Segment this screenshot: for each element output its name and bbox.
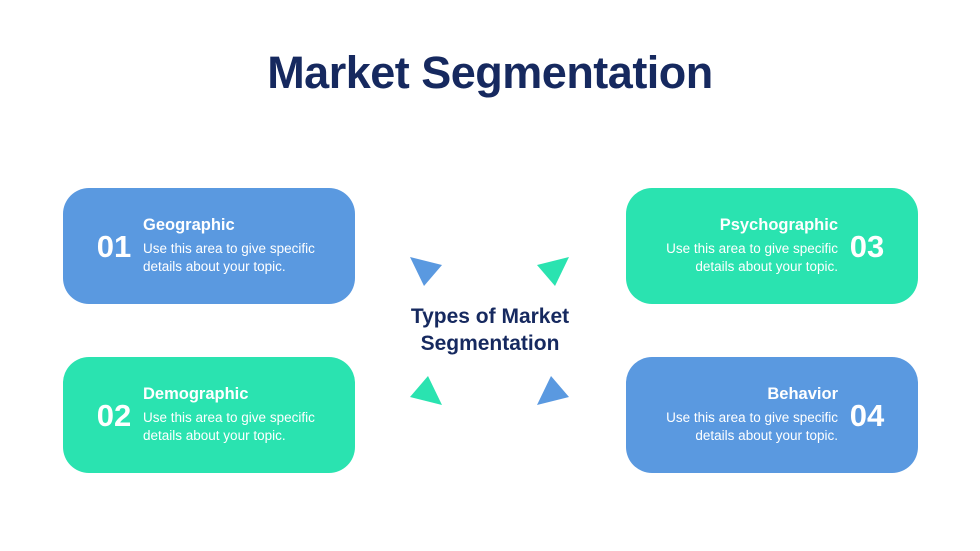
segment-content: Geographic Use this area to give specifi…: [143, 216, 339, 276]
arrow-bottom-left-icon: [409, 375, 443, 409]
arrow-bottom-right-icon: [536, 375, 570, 409]
segment-content: Behavior Use this area to give specific …: [642, 385, 838, 445]
segment-card-geographic[interactable]: 01 Geographic Use this area to give spec…: [63, 188, 355, 304]
segment-description: Use this area to give specific details a…: [143, 240, 339, 276]
arrow-top-left-icon: [409, 253, 443, 287]
center-label: Types of Market Segmentation: [370, 303, 610, 358]
infographic-slide: Market Segmentation 01 Geographic Use th…: [0, 0, 980, 551]
segment-heading: Geographic: [143, 216, 339, 235]
segment-heading: Psychographic: [642, 216, 838, 235]
segment-number: 01: [85, 231, 143, 262]
arrow-top-right-icon: [536, 253, 570, 287]
segment-heading: Demographic: [143, 385, 339, 404]
segment-description: Use this area to give specific details a…: [642, 240, 838, 276]
segment-card-demographic[interactable]: 02 Demographic Use this area to give spe…: [63, 357, 355, 473]
segment-description: Use this area to give specific details a…: [642, 409, 838, 445]
segment-content: Demographic Use this area to give specif…: [143, 385, 339, 445]
page-title: Market Segmentation: [0, 48, 980, 98]
segment-number: 02: [85, 400, 143, 431]
segment-content: Psychographic Use this area to give spec…: [642, 216, 838, 276]
segment-number: 03: [838, 231, 896, 262]
segment-card-psychographic[interactable]: Psychographic Use this area to give spec…: [626, 188, 918, 304]
segment-heading: Behavior: [642, 385, 838, 404]
segment-card-behavior[interactable]: Behavior Use this area to give specific …: [626, 357, 918, 473]
segment-description: Use this area to give specific details a…: [143, 409, 339, 445]
segment-number: 04: [838, 400, 896, 431]
